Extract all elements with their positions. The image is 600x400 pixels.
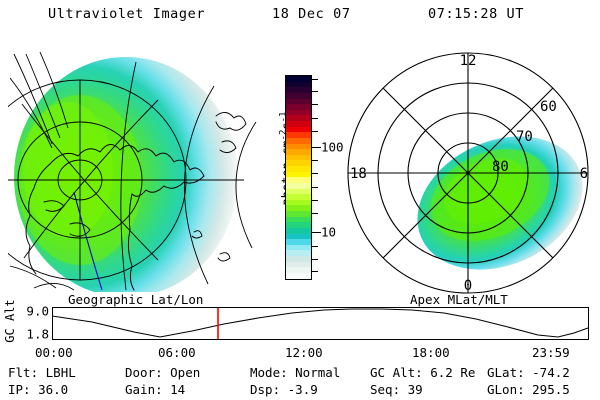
status-field-value: -3.9 [288, 382, 318, 397]
time-axis-tick-label: 12:00 [285, 345, 323, 360]
colorbar-tick-label: 10 [321, 225, 336, 240]
status-field: IP: 36.0 [8, 382, 68, 397]
status-row: IP: 36.0Gain: 14Dsp: -3.9Seq: 39GLon: 29… [0, 382, 600, 398]
mlat-label-70: 70 [516, 129, 533, 145]
status-field-label: IP: [8, 382, 38, 397]
observation-time: 07:15:28 UT [428, 6, 524, 22]
status-field: GC Alt: 6.2 Re [370, 365, 475, 380]
instrument-title: Ultraviolet Imager [48, 6, 205, 22]
altitude-plot-svg [52, 307, 589, 340]
mlt-label-6: 6 [580, 166, 588, 182]
header-bar: Ultraviolet Imager 18 Dec 07 07:15:28 UT [0, 6, 600, 28]
status-field-value: 6.2 Re [430, 365, 475, 380]
status-field-value: -74.2 [532, 365, 570, 380]
colorbar-minor-tick [312, 246, 318, 247]
status-field-value: 39 [408, 382, 423, 397]
mlt-label-12: 12 [460, 53, 477, 69]
status-field-value: 36.0 [38, 382, 68, 397]
colorbar-minor-tick [312, 187, 318, 188]
status-field-value: 295.5 [532, 382, 570, 397]
uvi-display: Ultraviolet Imager 18 Dec 07 07:15:28 UT [0, 0, 600, 400]
colorbar-minor-tick [312, 200, 318, 201]
status-field: Gain: 14 [125, 382, 185, 397]
time-axis-tick-label: 00:00 [35, 345, 73, 360]
status-field-value: 14 [170, 382, 185, 397]
colorbar-minor-tick [312, 173, 318, 174]
status-field-value: Open [170, 365, 200, 380]
mlt-label-18: 18 [350, 166, 367, 182]
colorbar-major-tick [312, 232, 321, 233]
status-field: Door: Open [125, 365, 200, 380]
time-axis: 00:0006:0012:0018:0023:59 [0, 345, 600, 361]
colorbar-minor-tick [312, 259, 318, 260]
status-field: Dsp: -3.9 [250, 382, 318, 397]
status-field: GLat: -74.2 [487, 365, 570, 380]
status-field-label: Mode: [250, 365, 295, 380]
mlt-spokes [348, 53, 588, 293]
aurora-emission-geo [14, 57, 238, 292]
colorbar-band [286, 273, 311, 279]
status-block: Flt: LBHLDoor: OpenMode: NormalGC Alt: 6… [0, 365, 600, 399]
colorbar-minor-tick [312, 271, 318, 272]
geographic-panel-caption: Geographic Lat/Lon [68, 292, 203, 307]
time-axis-tick-label: 06:00 [158, 345, 196, 360]
status-field: Flt: LBHL [8, 365, 76, 380]
alt-tick-high: 9.0 [26, 304, 49, 319]
status-field-label: Dsp: [250, 382, 288, 397]
status-field: Mode: Normal [250, 365, 340, 380]
mlat-label-60: 60 [540, 99, 557, 115]
status-field-label: Gain: [125, 382, 170, 397]
mlt-polar-svg: 12 18 6 0 60 70 80 [340, 45, 600, 295]
altitude-plot-panel [52, 307, 589, 340]
geographic-map-svg [8, 52, 258, 292]
status-field: GLon: 295.5 [487, 382, 570, 397]
colorbar-minor-tick [312, 104, 318, 105]
time-axis-tick-label: 18:00 [412, 345, 450, 360]
colorbar-minor-tick [312, 91, 318, 92]
colorbar-minor-tick [312, 213, 318, 214]
status-field-value: LBHL [46, 365, 76, 380]
alt-tick-low: 1.8 [26, 327, 49, 342]
status-row: Flt: LBHLDoor: OpenMode: NormalGC Alt: 6… [0, 365, 600, 381]
alt-axis-label: GC Alt [3, 295, 17, 347]
mlt-polar-panel: 12 18 6 0 60 70 80 [340, 45, 600, 295]
observation-date: 18 Dec 07 [272, 6, 351, 22]
status-field-label: GLon: [487, 382, 532, 397]
colorbar-minor-tick [312, 131, 318, 132]
status-field: Seq: 39 [370, 382, 423, 397]
status-field-label: GLat: [487, 365, 532, 380]
geographic-map-panel [8, 52, 258, 292]
mlat-label-80: 80 [492, 159, 509, 175]
status-field-label: Door: [125, 365, 170, 380]
mlt-panel-caption: Apex MLat/MLT [410, 292, 508, 307]
status-field-label: Seq: [370, 382, 408, 397]
status-field-label: Flt: [8, 365, 46, 380]
altitude-plot-frame [53, 308, 589, 340]
status-field-value: Normal [295, 365, 340, 380]
colorbar-gradient [285, 75, 312, 280]
colorbar-minor-tick [312, 160, 318, 161]
colorbar-minor-tick [312, 79, 318, 80]
time-axis-tick-label: 23:59 [532, 345, 570, 360]
colorbar-major-tick [312, 147, 321, 148]
status-field-label: GC Alt: [370, 365, 430, 380]
colorbar-minor-tick [312, 118, 318, 119]
